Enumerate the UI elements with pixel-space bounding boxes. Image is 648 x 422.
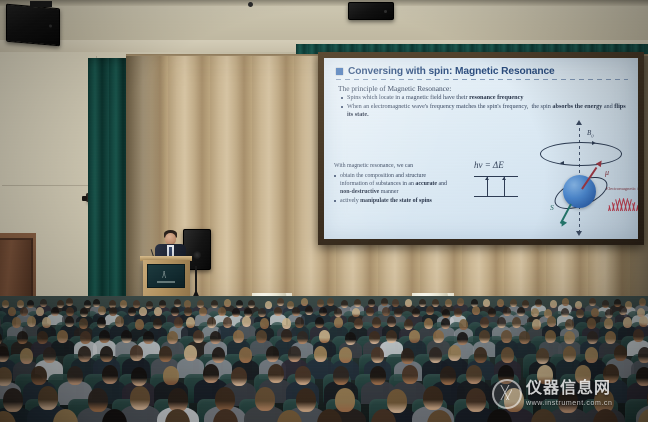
energy-level-upper	[474, 176, 518, 177]
audience-head	[457, 332, 468, 345]
audience-head	[565, 319, 574, 330]
audience-head	[193, 330, 204, 343]
audience-head	[38, 386, 58, 410]
audience-head	[282, 318, 291, 329]
audience-head	[575, 301, 582, 309]
precession-arrow-left	[560, 161, 564, 165]
audience-head	[561, 308, 569, 317]
audience-head	[301, 298, 308, 306]
watermark-url: www.instrument.com.cn	[526, 400, 613, 407]
audience-head	[441, 318, 450, 329]
audience-head	[614, 345, 627, 361]
audience-head	[370, 366, 386, 385]
audience-head	[233, 330, 244, 343]
audience-head	[382, 307, 390, 316]
institution-emblem-icon	[156, 271, 173, 278]
watermark: 仪器信息网 www.instrument.com.cn	[492, 372, 642, 416]
audience-head	[218, 307, 226, 316]
audience-head	[457, 298, 464, 306]
list-item: Spins which locate in a magnetic field h…	[340, 94, 630, 102]
audience-head	[153, 318, 162, 329]
lecture-hall-photo: Conversing with spin: Magnetic Resonance…	[0, 0, 648, 422]
audience-head	[314, 346, 327, 362]
audience-head	[605, 309, 613, 318]
audience-head	[576, 309, 584, 318]
audience-head	[354, 299, 361, 307]
audience-head	[488, 308, 496, 317]
audience-head	[472, 306, 480, 315]
audience-head	[88, 388, 108, 412]
audience-head	[295, 366, 311, 385]
watermark-logo-icon	[492, 379, 522, 409]
audience-head	[31, 366, 47, 385]
audience-head	[109, 307, 117, 316]
audience-head	[404, 319, 413, 330]
audience-head	[547, 316, 556, 327]
audience-head	[638, 347, 648, 363]
audience-head	[639, 298, 646, 306]
audience-head	[98, 306, 106, 315]
em-field-label: Electromagnetic field	[606, 186, 638, 191]
audience-head	[12, 317, 21, 328]
audience-head	[130, 386, 150, 410]
audience-head	[433, 330, 444, 343]
audience-head	[232, 308, 240, 317]
audience-head	[248, 300, 255, 308]
audience-head	[128, 307, 136, 316]
title-underline	[336, 79, 628, 80]
precession-ellipse	[540, 142, 622, 166]
audience-head	[536, 348, 549, 364]
audience-head	[563, 346, 576, 362]
audience-head	[587, 331, 598, 344]
audience-head	[386, 330, 397, 343]
audience-head	[102, 365, 118, 384]
audience-head	[199, 307, 207, 316]
audience-head	[174, 317, 183, 328]
audience-head	[2, 300, 9, 308]
audience-head	[37, 331, 48, 344]
audience-head	[372, 317, 381, 328]
spin-vector-arrowhead	[559, 220, 567, 228]
audience-head	[339, 347, 352, 363]
application-text-block: With magnetic resonance, we can obtain t…	[334, 162, 452, 206]
magnetic-moment-label: μ	[605, 168, 609, 177]
audience-head	[619, 306, 627, 315]
transition-arrow-1	[487, 177, 488, 196]
audience-head	[334, 308, 342, 317]
field-axis-label: B0	[587, 129, 594, 138]
audience-head	[274, 307, 282, 316]
audience-head	[130, 345, 143, 361]
audience-head	[405, 299, 412, 307]
audience-head	[319, 330, 330, 343]
audience-head	[474, 347, 487, 363]
wall-seam-horizontal	[2, 185, 98, 186]
transition-arrow-2	[504, 177, 505, 196]
energy-level-diagram	[474, 174, 518, 200]
field-axis-arrow-up	[576, 120, 582, 125]
ceiling-speaker-left-mount	[30, 1, 52, 7]
audience-head	[639, 316, 648, 327]
audience-head	[184, 307, 192, 316]
audience-head	[424, 318, 433, 329]
audience-head	[203, 364, 219, 383]
audience-head	[466, 388, 486, 412]
audience-head	[319, 307, 327, 316]
audience-head	[333, 366, 349, 385]
audience-head	[633, 329, 644, 342]
audience-head	[605, 331, 616, 344]
audience-head	[186, 317, 195, 328]
audience-head	[277, 298, 284, 306]
principle-heading: The principle of Magnetic Resonance:	[338, 84, 451, 93]
em-wave-icon	[608, 198, 638, 211]
audience-head	[256, 330, 267, 343]
energy-level-lower	[474, 196, 518, 197]
audience-head	[564, 331, 575, 344]
audience-head	[174, 299, 181, 307]
podium-front-panel	[147, 264, 185, 288]
audience-head	[67, 366, 83, 385]
field-axis-arrow-down	[576, 231, 582, 236]
ceiling-shadow-line	[0, 0, 648, 6]
audience-head	[602, 300, 609, 308]
audience-head	[66, 307, 74, 316]
slide-title: Conversing with spin: Magnetic Resonance	[348, 66, 555, 77]
audience-head	[80, 331, 91, 344]
audience-head	[532, 319, 541, 330]
audience-head	[268, 364, 284, 383]
audience-head	[242, 316, 251, 327]
audience-head	[171, 307, 179, 316]
audience-head	[17, 331, 28, 344]
audience-head	[423, 386, 443, 410]
watermark-text: 仪器信息网 www.instrument.com.cn	[526, 381, 613, 407]
audience-head	[535, 299, 542, 307]
audience-head	[8, 307, 16, 316]
audience-head	[115, 316, 124, 327]
audience-head	[265, 301, 272, 309]
audience-head	[345, 332, 356, 345]
list-item: obtain the composition and structure inf…	[334, 172, 452, 196]
audience-head	[369, 331, 380, 344]
audience-head	[440, 366, 456, 385]
audience-head	[131, 367, 147, 386]
audience-head	[454, 308, 462, 317]
list-item: When an electromagnetic wave's frequency…	[340, 103, 630, 119]
audience-head	[36, 307, 44, 316]
title-marker-icon	[336, 68, 343, 75]
audience-head	[501, 330, 512, 343]
audience-head	[78, 346, 91, 362]
ceiling-speaker-left-icon	[6, 4, 60, 47]
watermark-site-name: 仪器信息网	[526, 381, 613, 397]
audience-head	[266, 346, 279, 362]
audience-head	[562, 298, 569, 306]
audience-head	[207, 317, 216, 328]
audience-head	[40, 299, 47, 307]
audience-head	[409, 330, 420, 343]
audience-head	[20, 348, 33, 364]
institution-emblem-underline	[157, 281, 175, 283]
audience-head	[401, 348, 414, 364]
audience-head	[459, 319, 468, 330]
audience-head	[135, 319, 144, 330]
audience-head	[163, 366, 179, 385]
audience-head	[84, 300, 91, 308]
audience-head	[27, 316, 36, 327]
audience-head	[623, 317, 632, 328]
audience-head	[448, 345, 461, 361]
audience-head	[159, 346, 172, 362]
audience-head	[334, 317, 343, 328]
audience-head	[223, 317, 232, 328]
audience-head	[296, 388, 316, 412]
audience-head	[154, 307, 162, 316]
audience-head	[65, 316, 74, 327]
audience-head	[585, 347, 598, 363]
audience-head	[100, 346, 113, 362]
audience-head	[387, 316, 396, 327]
audience-head	[503, 307, 511, 316]
resonance-equation: hν = ΔE	[474, 160, 504, 170]
precession-arrow-right	[592, 141, 596, 145]
audience-head	[341, 300, 348, 308]
audience-head	[545, 330, 556, 343]
audience-head	[211, 300, 218, 308]
spin-sphere	[563, 175, 596, 208]
audience-head	[354, 318, 363, 329]
audience-head	[146, 301, 153, 309]
audience-head	[212, 347, 225, 363]
audience-head	[352, 308, 360, 317]
ceiling-sensor-icon	[248, 2, 253, 7]
spin-precession-diagram: B0 μ S Electromagnetic field	[520, 120, 638, 236]
audience-head	[479, 330, 490, 343]
audience-head	[512, 317, 521, 328]
audience-head	[402, 365, 418, 384]
audience-head	[445, 299, 452, 307]
audience-head	[139, 307, 147, 316]
audience-head	[614, 299, 621, 307]
audience-head	[184, 345, 197, 361]
audience-head	[394, 308, 402, 317]
audience-head	[3, 388, 23, 412]
slide-title-row: Conversing with spin: Magnetic Resonance	[336, 66, 626, 77]
audience-head	[466, 365, 482, 384]
audience-head	[335, 388, 355, 412]
audience-head	[387, 389, 407, 413]
audience-head	[99, 330, 110, 343]
audience-head	[43, 347, 56, 363]
audience-head	[51, 307, 59, 316]
audience-head	[305, 306, 313, 315]
audience-head	[501, 347, 514, 363]
audience-head	[231, 367, 247, 386]
field-axis-label-sub: 0	[591, 133, 593, 138]
audience-head	[371, 347, 384, 363]
audience-head	[120, 300, 127, 308]
principle-bullet-list: Spins which locate in a magnetic field h…	[340, 94, 630, 120]
audience-head	[591, 308, 599, 317]
audience-head	[239, 347, 252, 363]
application-heading: With magnetic resonance, we can	[334, 162, 452, 170]
audience-head	[215, 387, 235, 411]
audience-head	[519, 331, 530, 344]
audience-head	[210, 331, 221, 344]
audience-head	[97, 317, 106, 328]
audience-head	[20, 307, 28, 316]
audience-head	[292, 307, 300, 316]
audience-head	[517, 307, 525, 316]
audience-head	[392, 299, 399, 307]
audience-head	[429, 347, 442, 363]
audience-head	[121, 330, 132, 343]
audience-head	[224, 299, 231, 307]
audience-head	[368, 299, 375, 307]
audience-head	[419, 299, 426, 307]
audience-head	[480, 317, 489, 328]
audience-head	[432, 299, 439, 307]
projection-screen: Conversing with spin: Magnetic Resonance…	[324, 58, 638, 239]
audience-head	[281, 329, 292, 342]
audience-head	[604, 318, 613, 329]
audience-head	[497, 299, 504, 307]
audience-head	[288, 346, 301, 362]
audience-head	[412, 308, 420, 317]
audience-head	[497, 317, 506, 328]
audience-head	[167, 331, 178, 344]
list-item: actively manipulate the state of spins	[334, 197, 452, 205]
ceiling-speaker-center-icon	[348, 2, 394, 20]
audience-head	[442, 309, 450, 318]
audience-head	[255, 387, 275, 411]
audience-head	[143, 331, 154, 344]
spin-vector-label: S	[550, 203, 554, 212]
